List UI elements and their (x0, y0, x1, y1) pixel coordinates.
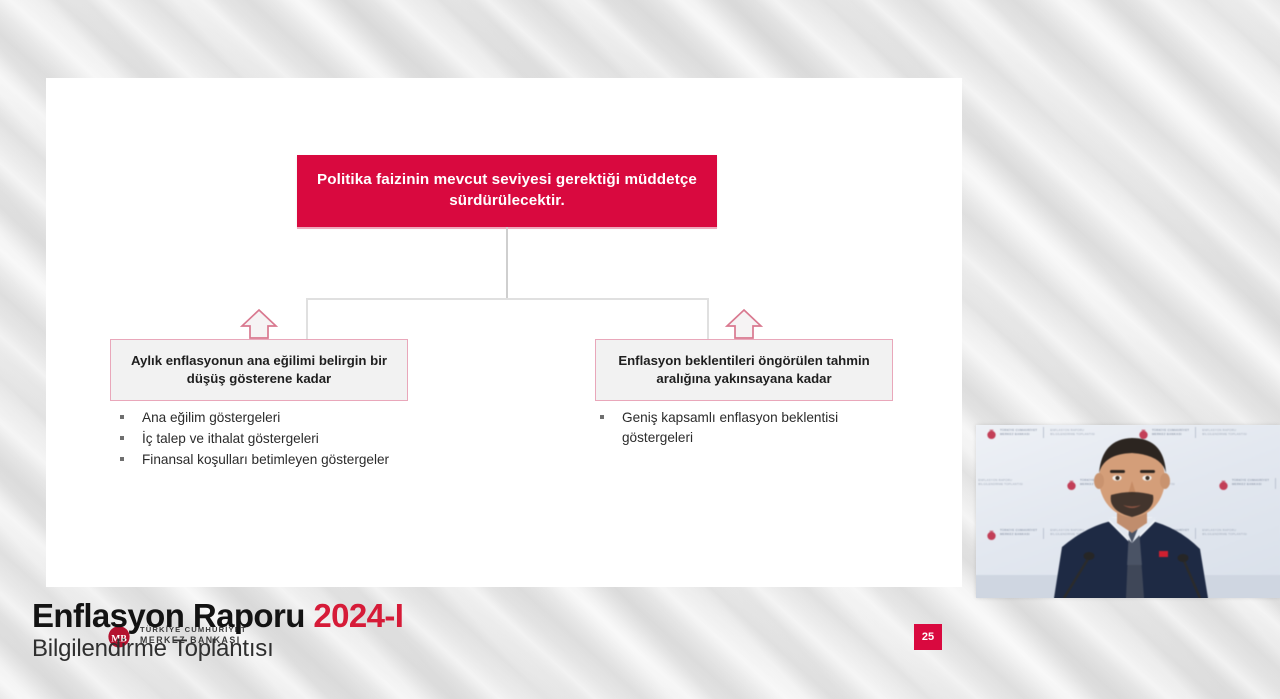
broadcast-title-year: 2024-I (313, 597, 403, 634)
list-item-label: İç talep ve ithalat göstergeleri (142, 431, 319, 446)
condition-left-text: Aylık enflasyonun ana eğilimi belirgin b… (111, 352, 407, 388)
connector-horizontal (306, 298, 708, 300)
bullet-square-icon (600, 415, 604, 419)
arrow-up-right-icon (722, 307, 766, 341)
bullet-square-icon (120, 457, 124, 461)
presentation-slide: Politika faizinin mevcut seviyesi gerekt… (46, 78, 962, 587)
indicator-list-left: Ana eğilim göstergeleri İç talep ve itha… (116, 408, 416, 471)
list-item-label: Geniş kapsamlı enflasyon beklentisi göst… (622, 410, 838, 445)
list-item: İç talep ve ithalat göstergeleri (116, 429, 416, 449)
speaker-figure (976, 425, 1280, 598)
broadcast-title-overlay: Enflasyon Raporu 2024-I Bilgilendirme To… (32, 598, 403, 663)
bullet-square-icon (120, 436, 124, 440)
condition-right-text: Enflasyon beklentileri öngörülen tahmin … (596, 352, 892, 388)
speaker-video-inset[interactable]: TÜRKİYE CUMHURİYETMERKEZ BANKASIENFLASYO… (976, 425, 1280, 598)
condition-box-right: Enflasyon beklentileri öngörülen tahmin … (595, 339, 893, 401)
list-item: Ana eğilim göstergeleri (116, 408, 416, 428)
list-item: Geniş kapsamlı enflasyon beklentisi göst… (596, 408, 896, 448)
slide-page-number-badge: 25 (914, 624, 942, 650)
list-item-label: Ana eğilim göstergeleri (142, 410, 280, 425)
condition-box-left: Aylık enflasyonun ana eğilimi belirgin b… (110, 339, 408, 401)
broadcast-subtitle: Bilgilendirme Toplantısı (32, 635, 403, 663)
broadcast-title-line1: Enflasyon Raporu 2024-I (32, 598, 403, 634)
connector-vertical-stem (506, 227, 508, 299)
main-statement-box: Politika faizinin mevcut seviyesi gerekt… (297, 155, 717, 227)
indicator-list-right: Geniş kapsamlı enflasyon beklentisi göst… (596, 408, 896, 449)
broadcast-title-main: Enflasyon Raporu (32, 597, 313, 634)
bullet-square-icon (120, 415, 124, 419)
list-item-label: Finansal koşulları betimleyen göstergele… (142, 452, 389, 467)
list-item: Finansal koşulları betimleyen göstergele… (116, 450, 416, 470)
arrow-up-left-icon (237, 307, 281, 341)
main-statement-text: Politika faizinin mevcut seviyesi gerekt… (297, 170, 717, 211)
